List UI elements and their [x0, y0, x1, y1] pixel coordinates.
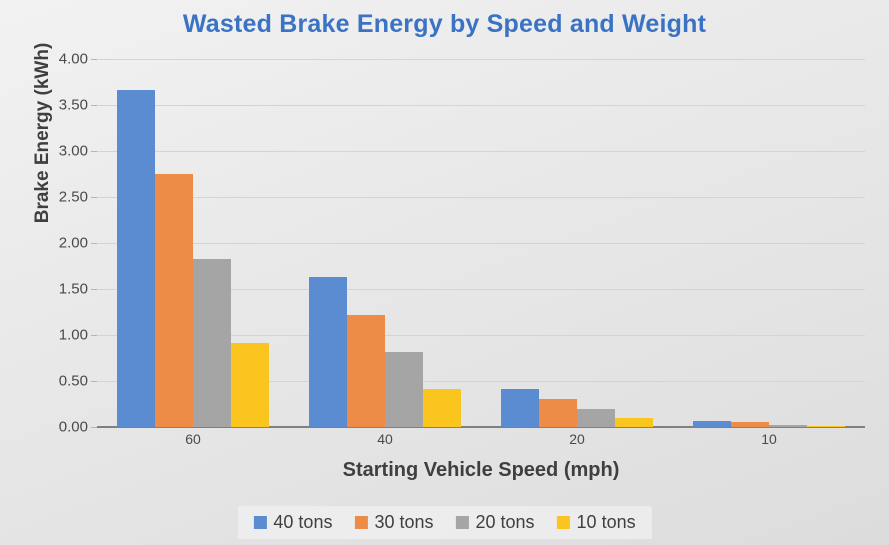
- legend-swatch-icon: [253, 516, 266, 529]
- x-tick-label: 20: [481, 431, 673, 447]
- legend-item[interactable]: 20 tons: [456, 512, 535, 533]
- bar[interactable]: [577, 409, 615, 427]
- bars-layer: [97, 59, 865, 427]
- legend-swatch-icon: [557, 516, 570, 529]
- bar[interactable]: [117, 90, 155, 427]
- legend-label: 30 tons: [374, 512, 433, 533]
- bar[interactable]: [423, 389, 461, 427]
- bar[interactable]: [385, 352, 423, 427]
- bar-slot: [155, 59, 193, 427]
- bar-slot: [193, 59, 231, 427]
- bar-slot: [577, 59, 615, 427]
- x-axis-tick-labels: 60402010: [97, 431, 865, 447]
- bar-group: [97, 59, 289, 427]
- legend-label: 20 tons: [476, 512, 535, 533]
- chart-title: Wasted Brake Energy by Speed and Weight: [0, 10, 889, 39]
- bar[interactable]: [231, 343, 269, 427]
- bar[interactable]: [193, 259, 231, 427]
- x-axis-title: Starting Vehicle Speed (mph): [97, 459, 865, 482]
- x-tick-label: 60: [97, 431, 289, 447]
- y-tick-label: 4.00: [59, 51, 88, 68]
- bar-group: [481, 59, 673, 427]
- x-tick-label: 10: [673, 431, 865, 447]
- legend-item[interactable]: 40 tons: [253, 512, 332, 533]
- bar[interactable]: [539, 399, 577, 427]
- y-tick-label: 0.50: [59, 373, 88, 390]
- bar[interactable]: [155, 174, 193, 427]
- y-tick-label: 3.50: [59, 97, 88, 114]
- legend-item[interactable]: 30 tons: [354, 512, 433, 533]
- y-axis-title: Brake Energy (kWh): [32, 0, 54, 268]
- bar-slot: [385, 59, 423, 427]
- legend: 40 tons30 tons20 tons10 tons: [237, 506, 651, 539]
- bar[interactable]: [309, 277, 347, 427]
- y-tick-mark: [91, 427, 97, 428]
- legend-swatch-icon: [456, 516, 469, 529]
- bar-group: [673, 59, 865, 427]
- bar-slot: [117, 59, 155, 427]
- bar-slot: [309, 59, 347, 427]
- bar-slot: [615, 59, 653, 427]
- legend-label: 10 tons: [577, 512, 636, 533]
- y-tick-label: 1.00: [59, 327, 88, 344]
- bar[interactable]: [693, 421, 731, 427]
- y-tick-label: 2.00: [59, 235, 88, 252]
- bar[interactable]: [769, 425, 807, 427]
- bar-slot: [693, 59, 731, 427]
- legend-label: 40 tons: [273, 512, 332, 533]
- bar-slot: [731, 59, 769, 427]
- legend-swatch-icon: [354, 516, 367, 529]
- plot-area: 0.000.501.001.502.002.503.003.504.00: [97, 59, 865, 427]
- bar[interactable]: [731, 422, 769, 427]
- bar-slot: [539, 59, 577, 427]
- x-tick-label: 40: [289, 431, 481, 447]
- bar[interactable]: [615, 418, 653, 427]
- bar-chart: Wasted Brake Energy by Speed and Weight …: [0, 0, 889, 545]
- y-tick-label: 3.00: [59, 143, 88, 160]
- y-tick-label: 1.50: [59, 281, 88, 298]
- y-tick-label: 2.50: [59, 189, 88, 206]
- bar-slot: [347, 59, 385, 427]
- bar[interactable]: [807, 426, 845, 427]
- bar[interactable]: [347, 315, 385, 427]
- bar-slot: [807, 59, 845, 427]
- y-tick-label: 0.00: [59, 419, 88, 436]
- bar-slot: [423, 59, 461, 427]
- bar-slot: [231, 59, 269, 427]
- bar[interactable]: [501, 389, 539, 427]
- legend-item[interactable]: 10 tons: [557, 512, 636, 533]
- bar-group: [289, 59, 481, 427]
- bar-slot: [501, 59, 539, 427]
- bar-slot: [769, 59, 807, 427]
